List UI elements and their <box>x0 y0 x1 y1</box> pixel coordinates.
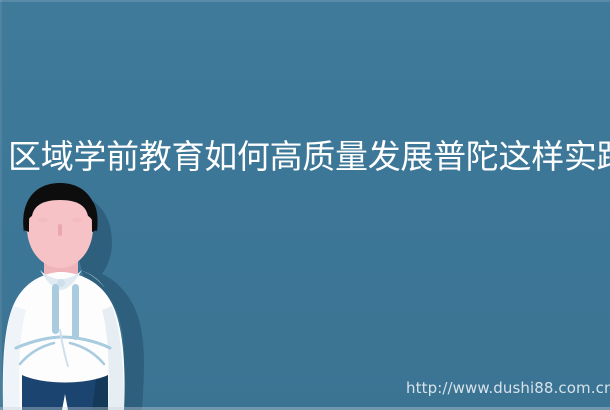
top-edge-highlight <box>0 0 610 2</box>
drawstring-left <box>52 284 59 334</box>
eye-left <box>38 218 48 222</box>
drawstring-knot <box>57 279 65 287</box>
nose <box>58 224 62 236</box>
poster-canvas: 区域学前教育如何高质量发展普陀这样实践 http://www.dushi88.c… <box>0 0 610 410</box>
watermark-url: http://www.dushi88.com.cn <box>406 378 602 398</box>
eye-right <box>72 218 82 222</box>
drawstring-right <box>72 284 79 340</box>
page-title: 区域学前教育如何高质量发展普陀这样实践 <box>8 134 608 178</box>
person-illustration <box>0 180 190 410</box>
